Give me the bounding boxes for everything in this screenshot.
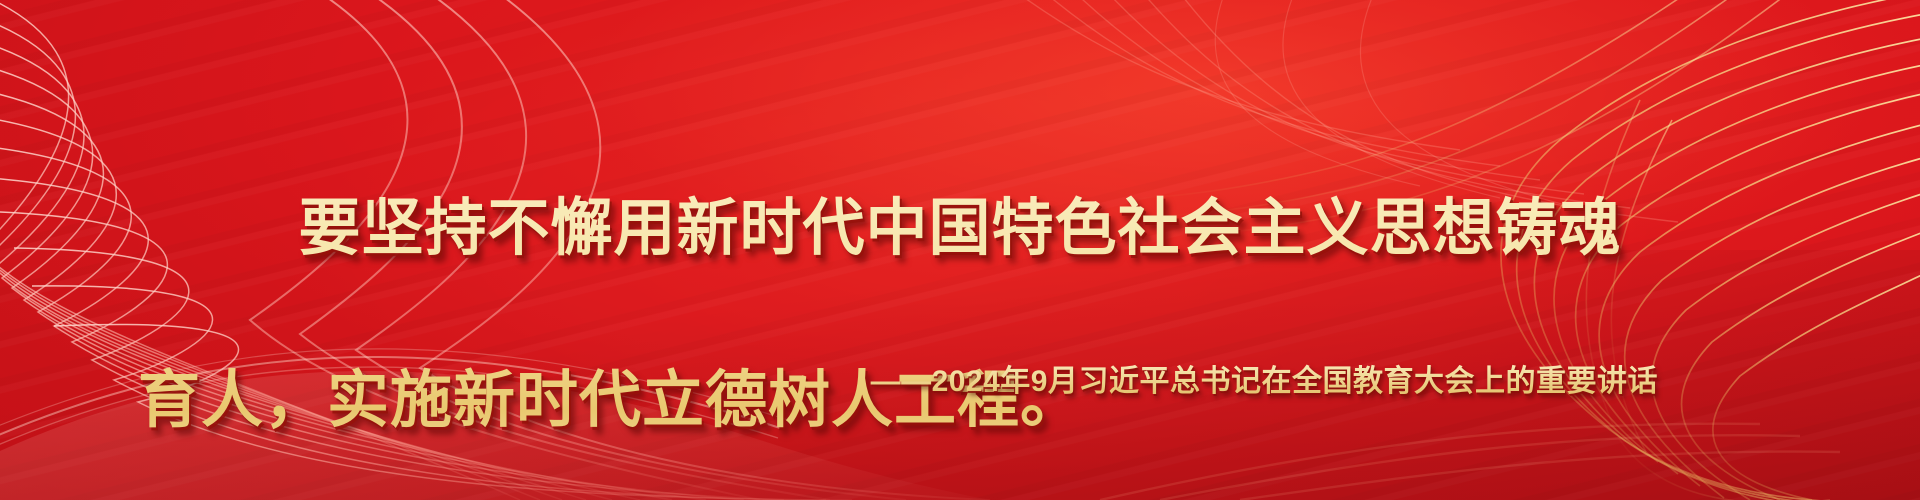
headline-line-1: 要坚持不懈用新时代中国特色社会主义思想铸魂 — [120, 186, 1800, 272]
headline: 要坚持不懈用新时代中国特色社会主义思想铸魂 育人，实施新时代立德树人工程。 — [0, 100, 1920, 500]
propaganda-banner: 要坚持不懈用新时代中国特色社会主义思想铸魂 育人，实施新时代立德树人工程。 ——… — [0, 0, 1920, 500]
banner-content: 要坚持不懈用新时代中国特色社会主义思想铸魂 育人，实施新时代立德树人工程。 ——… — [0, 0, 1920, 500]
attribution-text: ——2024年9月习近平总书记在全国教育大会上的重要讲话 — [0, 356, 1920, 400]
